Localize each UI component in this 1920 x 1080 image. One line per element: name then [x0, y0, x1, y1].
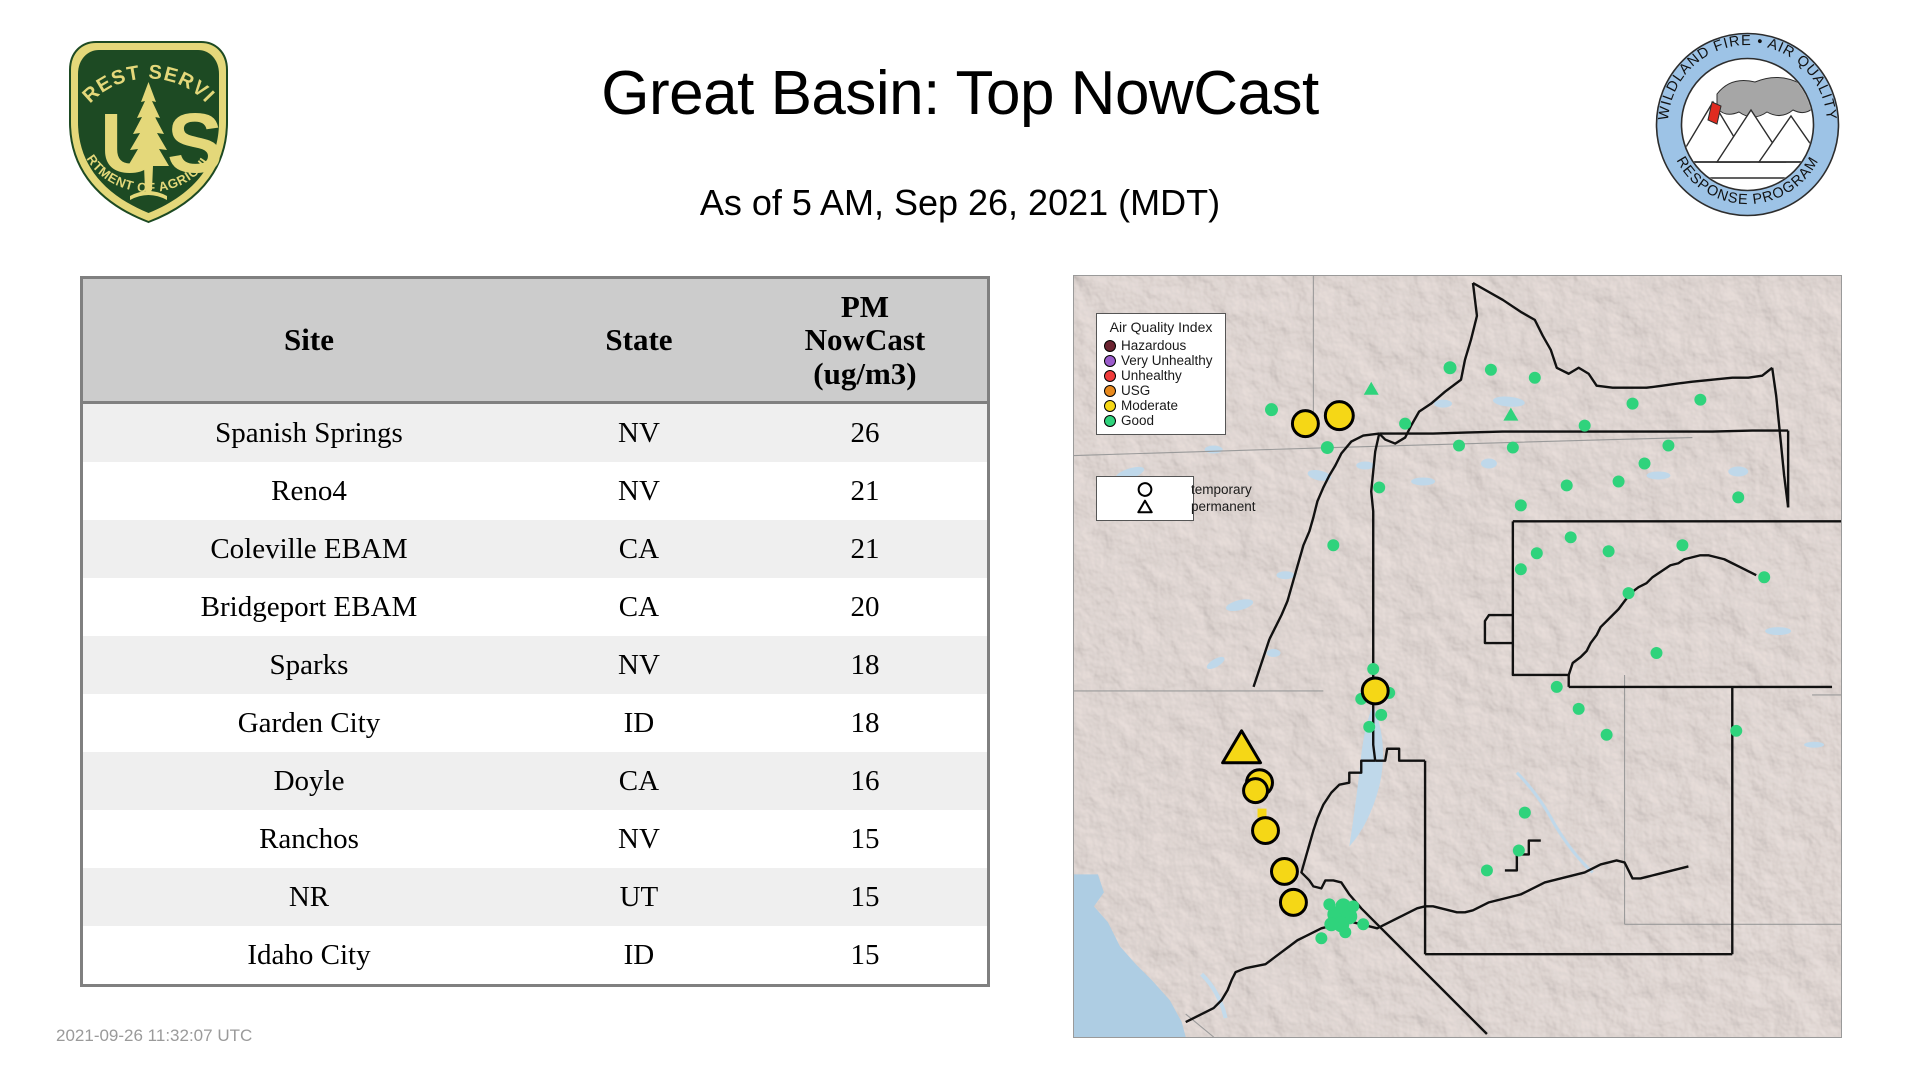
aqi-legend-label: Good: [1121, 413, 1154, 428]
table-row: RanchosNV15: [83, 810, 987, 868]
monitor-marker-moderate-garden-city[interactable]: [1292, 411, 1318, 437]
aqi-legend-title: Air Quality Index: [1104, 319, 1218, 335]
table-row: Idaho CityID15: [83, 926, 987, 984]
aqi-color-swatch: [1104, 415, 1116, 427]
cell-site: Reno4: [83, 462, 535, 520]
generated-timestamp: 2021-09-26 11:32:07 UTC: [56, 1026, 252, 1046]
air-quality-map[interactable]: Air Quality Index HazardousVery Unhealth…: [1073, 275, 1842, 1038]
table-row: Spanish SpringsNV26: [83, 403, 987, 463]
cell-state: CA: [535, 520, 743, 578]
cell-pm: 26: [743, 403, 987, 463]
table-row: Coleville EBAMCA21: [83, 520, 987, 578]
cell-site: Idaho City: [83, 926, 535, 984]
cell-site: Doyle: [83, 752, 535, 810]
aqi-legend-row: Very Unhealthy: [1104, 353, 1218, 368]
monitor-marker-good[interactable]: [1565, 531, 1577, 543]
aqi-color-swatch: [1104, 370, 1116, 382]
cell-state: NV: [535, 636, 743, 694]
cell-site: Spanish Springs: [83, 403, 535, 463]
aqi-legend-label: Hazardous: [1121, 338, 1186, 353]
column-header-state: State: [535, 279, 743, 403]
cell-site: Garden City: [83, 694, 535, 752]
monitor-marker-good[interactable]: [1327, 539, 1339, 551]
monitor-marker-moderate-reno4[interactable]: [1244, 779, 1268, 803]
table-row: SparksNV18: [83, 636, 987, 694]
cell-state: ID: [535, 694, 743, 752]
monitor-marker-good[interactable]: [1561, 479, 1573, 491]
monitor-marker-good[interactable]: [1694, 394, 1706, 406]
monitor-type-legend: temporary permanent: [1096, 476, 1194, 521]
monitor-marker-moderate-idaho-city[interactable]: [1325, 402, 1353, 430]
table-row: Garden CityID18: [83, 694, 987, 752]
cell-site: Bridgeport EBAM: [83, 578, 535, 636]
aqi-legend-row: Good: [1104, 413, 1218, 428]
cell-pm: 16: [743, 752, 987, 810]
aqi-color-swatch: [1104, 400, 1116, 412]
table-head: Site State PM NowCast (ug/m3): [83, 279, 987, 403]
pm-header-line-3: (ug/m3): [743, 357, 987, 390]
permanent-triangle-icon: [1103, 498, 1187, 515]
monitor-marker-good[interactable]: [1367, 663, 1379, 675]
monitor-marker-good[interactable]: [1315, 932, 1327, 944]
monitor-marker-good[interactable]: [1507, 442, 1519, 454]
aqi-legend-label: Moderate: [1121, 398, 1178, 413]
legend-row-permanent: permanent: [1103, 498, 1187, 515]
pm-header-line-2: NowCast: [743, 323, 987, 356]
monitor-marker-good[interactable]: [1529, 372, 1541, 384]
monitor-marker-good[interactable]: [1613, 475, 1625, 487]
monitor-marker-moderate-nr[interactable]: [1362, 678, 1388, 704]
cell-state: CA: [535, 752, 743, 810]
monitor-marker-moderate-bridgeport[interactable]: [1280, 889, 1306, 915]
monitor-marker-good[interactable]: [1732, 491, 1744, 503]
monitor-marker-good[interactable]: [1579, 420, 1591, 432]
cell-pm: 15: [743, 810, 987, 868]
monitor-marker-moderate-coleville[interactable]: [1271, 858, 1297, 884]
monitor-marker-good[interactable]: [1662, 440, 1674, 452]
monitor-marker-good[interactable]: [1444, 361, 1457, 374]
monitor-marker-good[interactable]: [1399, 418, 1411, 430]
legend-row-temporary: temporary: [1103, 481, 1187, 498]
cell-state: ID: [535, 926, 743, 984]
monitor-marker-good[interactable]: [1650, 647, 1662, 659]
aqi-color-swatch: [1104, 340, 1116, 352]
cell-pm: 18: [743, 636, 987, 694]
aqi-legend: Air Quality Index HazardousVery Unhealth…: [1096, 313, 1226, 435]
table-row: DoyleCA16: [83, 752, 987, 810]
cell-state: NV: [535, 810, 743, 868]
monitor-marker-good[interactable]: [1730, 725, 1742, 737]
page-title: Great Basin: Top NowCast: [0, 58, 1920, 129]
monitor-marker-good[interactable]: [1265, 403, 1278, 416]
cell-site: Coleville EBAM: [83, 520, 535, 578]
cell-state: NV: [535, 462, 743, 520]
aqi-legend-items: HazardousVery UnhealthyUnhealthyUSGModer…: [1104, 338, 1218, 428]
monitor-marker-good[interactable]: [1623, 587, 1635, 599]
monitor-marker-good[interactable]: [1601, 729, 1613, 741]
table-header-row: Site State PM NowCast (ug/m3): [83, 279, 987, 403]
monitor-marker-good[interactable]: [1485, 364, 1497, 376]
monitor-marker-good[interactable]: [1515, 499, 1527, 511]
cell-pm: 15: [743, 868, 987, 926]
nowcast-table: Site State PM NowCast (ug/m3) Spanish Sp…: [83, 279, 987, 984]
cell-pm: 21: [743, 520, 987, 578]
monitor-marker-good[interactable]: [1375, 709, 1387, 721]
legend-label-temporary: temporary: [1191, 481, 1252, 498]
monitor-marker-moderate-ranchos[interactable]: [1253, 818, 1279, 844]
monitor-marker-good[interactable]: [1603, 545, 1615, 557]
cell-state: NV: [535, 403, 743, 463]
legend-label-permanent: permanent: [1191, 498, 1256, 515]
monitor-marker-good[interactable]: [1573, 703, 1585, 715]
monitor-marker-good[interactable]: [1363, 721, 1375, 733]
aqi-legend-row: Unhealthy: [1104, 368, 1218, 383]
temporary-circle-icon: [1103, 481, 1187, 498]
cell-site: NR: [83, 868, 535, 926]
cell-state: UT: [535, 868, 743, 926]
cell-state: CA: [535, 578, 743, 636]
page-subtitle: As of 5 AM, Sep 26, 2021 (MDT): [0, 182, 1920, 224]
monitor-marker-good[interactable]: [1519, 807, 1531, 819]
table-row: Reno4NV21: [83, 462, 987, 520]
cell-pm: 18: [743, 694, 987, 752]
monitor-marker-good[interactable]: [1758, 571, 1770, 583]
aqi-color-swatch: [1104, 385, 1116, 397]
monitor-marker-good[interactable]: [1515, 563, 1527, 575]
table-body: Spanish SpringsNV26Reno4NV21Coleville EB…: [83, 403, 987, 985]
aqi-legend-row: Hazardous: [1104, 338, 1218, 353]
table-row: NRUT15: [83, 868, 987, 926]
monitor-marker-good[interactable]: [1551, 681, 1563, 693]
monitor-marker-good[interactable]: [1639, 458, 1651, 470]
aqi-legend-label: Unhealthy: [1121, 368, 1182, 383]
monitor-marker-good[interactable]: [1321, 441, 1334, 454]
cell-site: Ranchos: [83, 810, 535, 868]
column-header-site: Site: [83, 279, 535, 403]
monitor-marker-good[interactable]: [1627, 398, 1639, 410]
table-row: Bridgeport EBAMCA20: [83, 578, 987, 636]
nowcast-table-container: Site State PM NowCast (ug/m3) Spanish Sp…: [80, 276, 990, 987]
cell-pm: 15: [743, 926, 987, 984]
aqi-legend-row: USG: [1104, 383, 1218, 398]
aqi-legend-label: Very Unhealthy: [1121, 353, 1213, 368]
aqi-legend-row: Moderate: [1104, 398, 1218, 413]
monitor-marker-good[interactable]: [1373, 481, 1385, 493]
cell-site: Sparks: [83, 636, 535, 694]
monitor-marker-good[interactable]: [1481, 864, 1493, 876]
aqi-legend-label: USG: [1121, 383, 1150, 398]
monitor-marker-good[interactable]: [1676, 539, 1688, 551]
cell-pm: 20: [743, 578, 987, 636]
aqi-color-swatch: [1104, 355, 1116, 367]
pm-header-line-1: PM: [743, 290, 987, 323]
cell-pm: 21: [743, 462, 987, 520]
monitor-marker-good[interactable]: [1357, 918, 1369, 930]
monitor-marker-good[interactable]: [1531, 547, 1543, 559]
monitor-marker-good[interactable]: [1513, 845, 1525, 857]
monitor-marker-good[interactable]: [1453, 440, 1465, 452]
column-header-pm-nowcast: PM NowCast (ug/m3): [743, 279, 987, 403]
